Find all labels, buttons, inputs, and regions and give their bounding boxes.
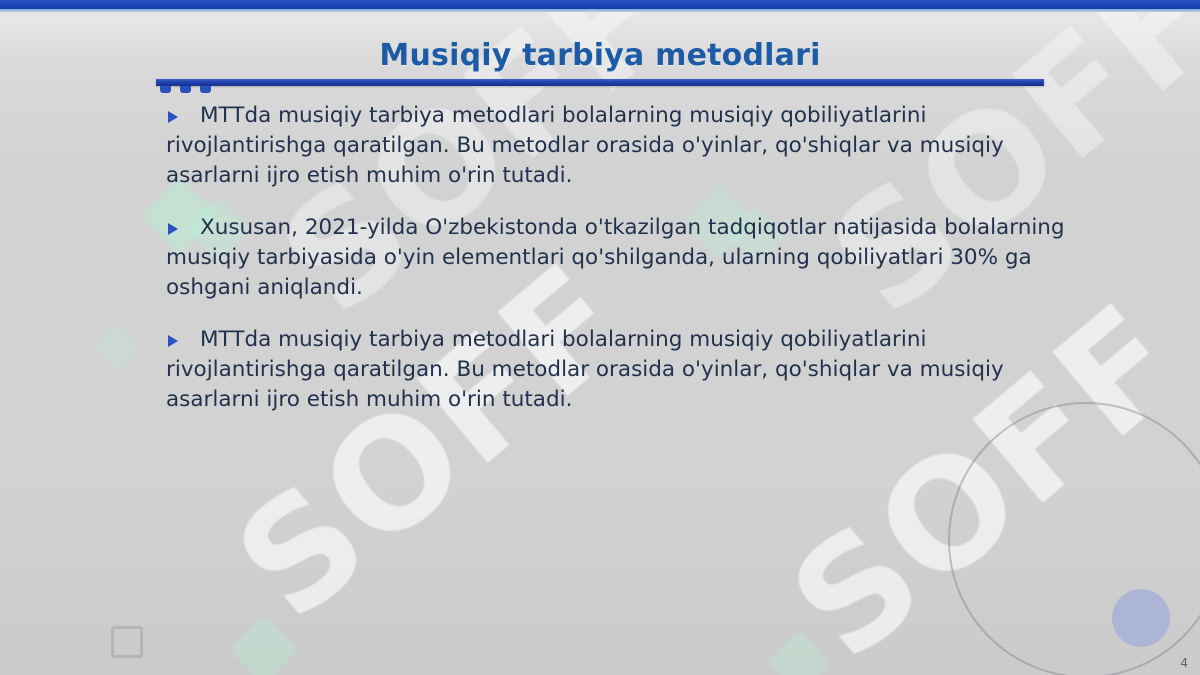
bullet-paragraph: MTTda musiqiy tarbiya metodlari bolalarn…: [166, 325, 1066, 415]
bullet-paragraph-text: MTTda musiqiy tarbiya metodlari bolalarn…: [166, 103, 1004, 188]
triangle-right-icon: [168, 111, 178, 123]
decorative-accent-dot: [1112, 589, 1170, 647]
diamond-fleck-icon: [93, 323, 141, 371]
presentation-slide: SOFF SOFF SOFF SOFF Musiqiy tarbiya meto…: [0, 0, 1200, 675]
decorative-circle-outline: [948, 402, 1200, 675]
rule-notch: [160, 86, 171, 93]
triangle-right-icon: [168, 223, 178, 235]
rule-notch: [180, 86, 191, 93]
diamond-fleck-icon: [230, 616, 298, 675]
slide-body: MTTda musiqiy tarbiya metodlari bolalarn…: [166, 101, 1066, 437]
decorative-square-outline: [111, 626, 143, 658]
bullet-paragraph-text: MTTda musiqiy tarbiya metodlari bolalarn…: [166, 327, 1004, 412]
bullet-paragraph-text: Xususan, 2021-yilda O'zbekistonda o'tkaz…: [166, 215, 1065, 300]
triangle-right-icon: [168, 335, 178, 347]
title-underline-rule: [156, 79, 1044, 86]
bullet-paragraph: MTTda musiqiy tarbiya metodlari bolalarn…: [166, 101, 1066, 191]
diamond-fleck-icon: [766, 630, 831, 675]
bullet-paragraph: Xususan, 2021-yilda O'zbekistonda o'tkaz…: [166, 213, 1066, 303]
top-banner: [0, 0, 1200, 9]
rule-notch: [200, 86, 211, 93]
slide-title: Musiqiy tarbiya metodlari: [0, 38, 1200, 73]
top-banner-hairline: [0, 9, 1200, 12]
page-number: 4: [1180, 656, 1188, 670]
title-rule-notches: [160, 86, 211, 93]
